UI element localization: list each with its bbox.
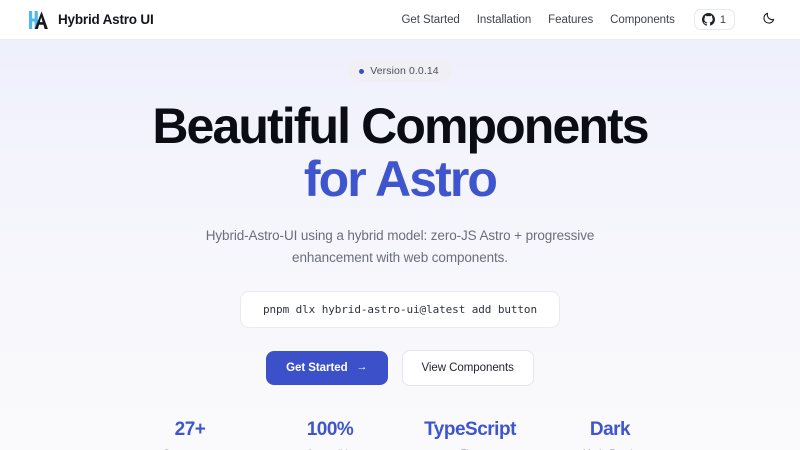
view-components-button[interactable]: View Components bbox=[402, 350, 534, 386]
stat-value: 27+ bbox=[120, 420, 260, 441]
version-badge: Version 0.0.14 bbox=[348, 60, 452, 82]
version-label: Version 0.0.14 bbox=[370, 65, 439, 77]
get-started-label: Get Started bbox=[286, 362, 347, 374]
site-header: Hybrid Astro UI Get Started Installation… bbox=[0, 0, 800, 40]
main-nav: Get Started Installation Features Compon… bbox=[402, 9, 780, 31]
cta-button-row: Get Started → View Components bbox=[266, 350, 534, 386]
arrow-right-icon: → bbox=[357, 362, 368, 373]
nav-link-installation[interactable]: Installation bbox=[477, 14, 531, 26]
stat-value: Dark bbox=[540, 420, 680, 441]
hero-section: Version 0.0.14 Beautiful Components for … bbox=[0, 40, 800, 450]
github-star-count: 1 bbox=[720, 14, 726, 26]
nav-link-components[interactable]: Components bbox=[610, 14, 675, 26]
stat-item: TypeScript First bbox=[400, 420, 540, 450]
stats-row: 27+ Components 100% Accessible TypeScrip… bbox=[120, 420, 680, 450]
stat-item: Dark Mode Ready bbox=[540, 420, 680, 450]
hero-subtitle: Hybrid-Astro-UI using a hybrid model: ze… bbox=[190, 225, 610, 269]
page-title: Beautiful Components for Astro bbox=[152, 100, 647, 206]
moon-icon bbox=[762, 11, 776, 28]
headline-line-2: for Astro bbox=[152, 153, 647, 206]
nav-link-features[interactable]: Features bbox=[548, 14, 593, 26]
hybrid-astro-logo-icon bbox=[28, 9, 49, 31]
version-status-dot bbox=[359, 69, 364, 74]
brand[interactable]: Hybrid Astro UI bbox=[28, 9, 154, 31]
stat-item: 27+ Components bbox=[120, 420, 260, 450]
nav-link-get-started[interactable]: Get Started bbox=[402, 14, 460, 26]
stat-value: 100% bbox=[260, 420, 400, 441]
github-icon bbox=[702, 13, 715, 26]
get-started-button[interactable]: Get Started → bbox=[266, 351, 387, 385]
stat-value: TypeScript bbox=[400, 420, 540, 441]
brand-name: Hybrid Astro UI bbox=[58, 12, 154, 27]
headline-line-1: Beautiful Components bbox=[152, 98, 647, 154]
github-stars-badge[interactable]: 1 bbox=[694, 9, 735, 30]
install-command-box[interactable]: pnpm dlx hybrid-astro-ui@latest add butt… bbox=[240, 291, 560, 328]
theme-toggle-button[interactable] bbox=[758, 9, 780, 31]
stat-item: 100% Accessible bbox=[260, 420, 400, 450]
